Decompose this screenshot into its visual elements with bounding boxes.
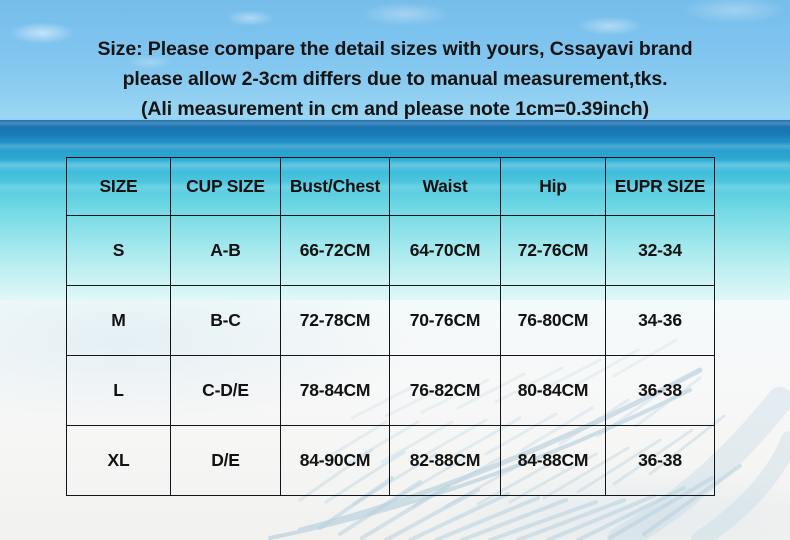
cell-eupr-size: 32-34 — [606, 216, 715, 286]
cell-cup-size: C-D/E — [171, 356, 281, 426]
table-row: XL D/E 84-90CM 82-88CM 84-88CM 36-38 — [67, 426, 715, 496]
size-note-caption: Size: Please compare the detail sizes wi… — [0, 34, 790, 124]
cell-waist: 64-70CM — [390, 216, 501, 286]
caption-line-2: please allow 2-3cm differs due to manual… — [0, 64, 790, 94]
size-chart-table: SIZE CUP SIZE Bust/Chest Waist Hip EUPR … — [66, 157, 715, 496]
cell-size: XL — [67, 426, 171, 496]
column-header-size: SIZE — [67, 158, 171, 216]
cell-hip: 84-88CM — [501, 426, 606, 496]
column-header-waist: Waist — [390, 158, 501, 216]
cell-bust-chest: 78-84CM — [281, 356, 390, 426]
cell-eupr-size: 36-38 — [606, 426, 715, 496]
column-header-eupr-size: EUPR SIZE — [606, 158, 715, 216]
cell-bust-chest: 84-90CM — [281, 426, 390, 496]
cell-cup-size: A-B — [171, 216, 281, 286]
cell-eupr-size: 36-38 — [606, 356, 715, 426]
table-row: L C-D/E 78-84CM 76-82CM 80-84CM 36-38 — [67, 356, 715, 426]
column-header-cup-size: CUP SIZE — [171, 158, 281, 216]
cell-cup-size: B-C — [171, 286, 281, 356]
cell-size: S — [67, 216, 171, 286]
cell-waist: 82-88CM — [390, 426, 501, 496]
cell-waist: 70-76CM — [390, 286, 501, 356]
cell-eupr-size: 34-36 — [606, 286, 715, 356]
cell-size: M — [67, 286, 171, 356]
column-header-bust-chest: Bust/Chest — [281, 158, 390, 216]
cell-hip: 76-80CM — [501, 286, 606, 356]
table-row: S A-B 66-72CM 64-70CM 72-76CM 32-34 — [67, 216, 715, 286]
cell-cup-size: D/E — [171, 426, 281, 496]
table-header-row: SIZE CUP SIZE Bust/Chest Waist Hip EUPR … — [67, 158, 715, 216]
cell-waist: 76-82CM — [390, 356, 501, 426]
caption-line-3: (Ali measurement in cm and please note 1… — [0, 94, 790, 124]
caption-line-1: Size: Please compare the detail sizes wi… — [0, 34, 790, 64]
cell-size: L — [67, 356, 171, 426]
size-chart-image: Size: Please compare the detail sizes wi… — [0, 0, 790, 540]
cell-bust-chest: 72-78CM — [281, 286, 390, 356]
column-header-hip: Hip — [501, 158, 606, 216]
cell-bust-chest: 66-72CM — [281, 216, 390, 286]
cell-hip: 80-84CM — [501, 356, 606, 426]
cell-hip: 72-76CM — [501, 216, 606, 286]
table-row: M B-C 72-78CM 70-76CM 76-80CM 34-36 — [67, 286, 715, 356]
